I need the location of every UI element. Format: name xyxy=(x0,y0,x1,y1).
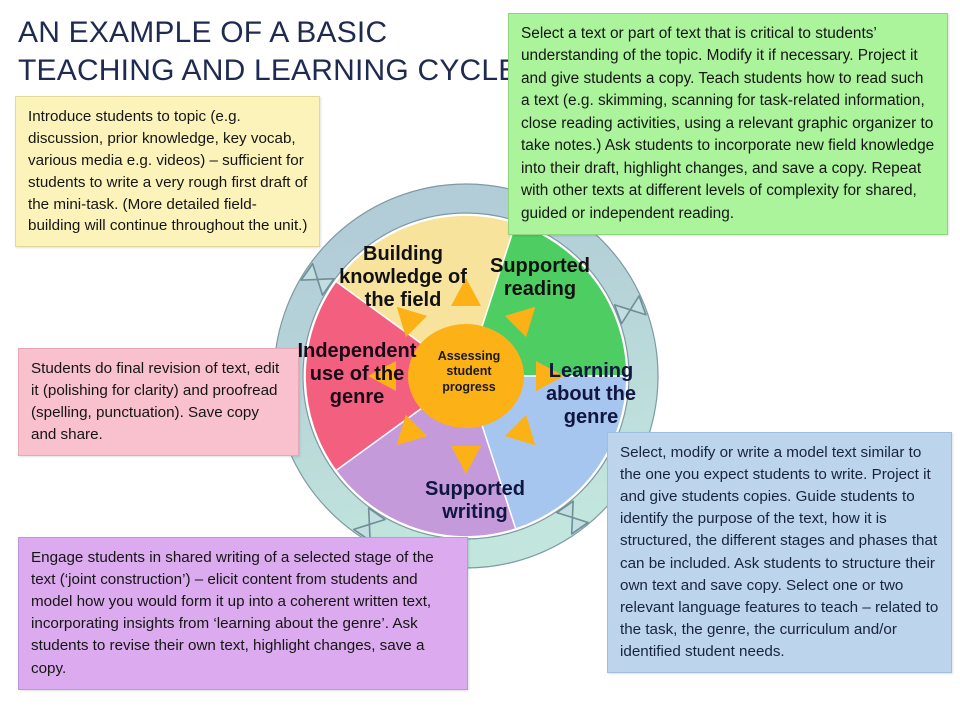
callout-learning-about-genre: Select, modify or write a model text sim… xyxy=(607,432,952,673)
slide-canvas: AN EXAMPLE OF A BASIC TEACHING AND LEARN… xyxy=(0,0,960,720)
callout-supported-reading: Select a text or part of text that is cr… xyxy=(508,13,948,235)
callout-supported-writing: Engage students in shared writing of a s… xyxy=(18,537,468,690)
assessment-hub xyxy=(408,324,524,428)
callout-independent-use: Students do final revision of text, edit… xyxy=(18,348,299,456)
page-title: AN EXAMPLE OF A BASIC TEACHING AND LEARN… xyxy=(18,14,538,91)
callout-field-building: Introduce students to topic (e.g. discus… xyxy=(15,96,320,247)
